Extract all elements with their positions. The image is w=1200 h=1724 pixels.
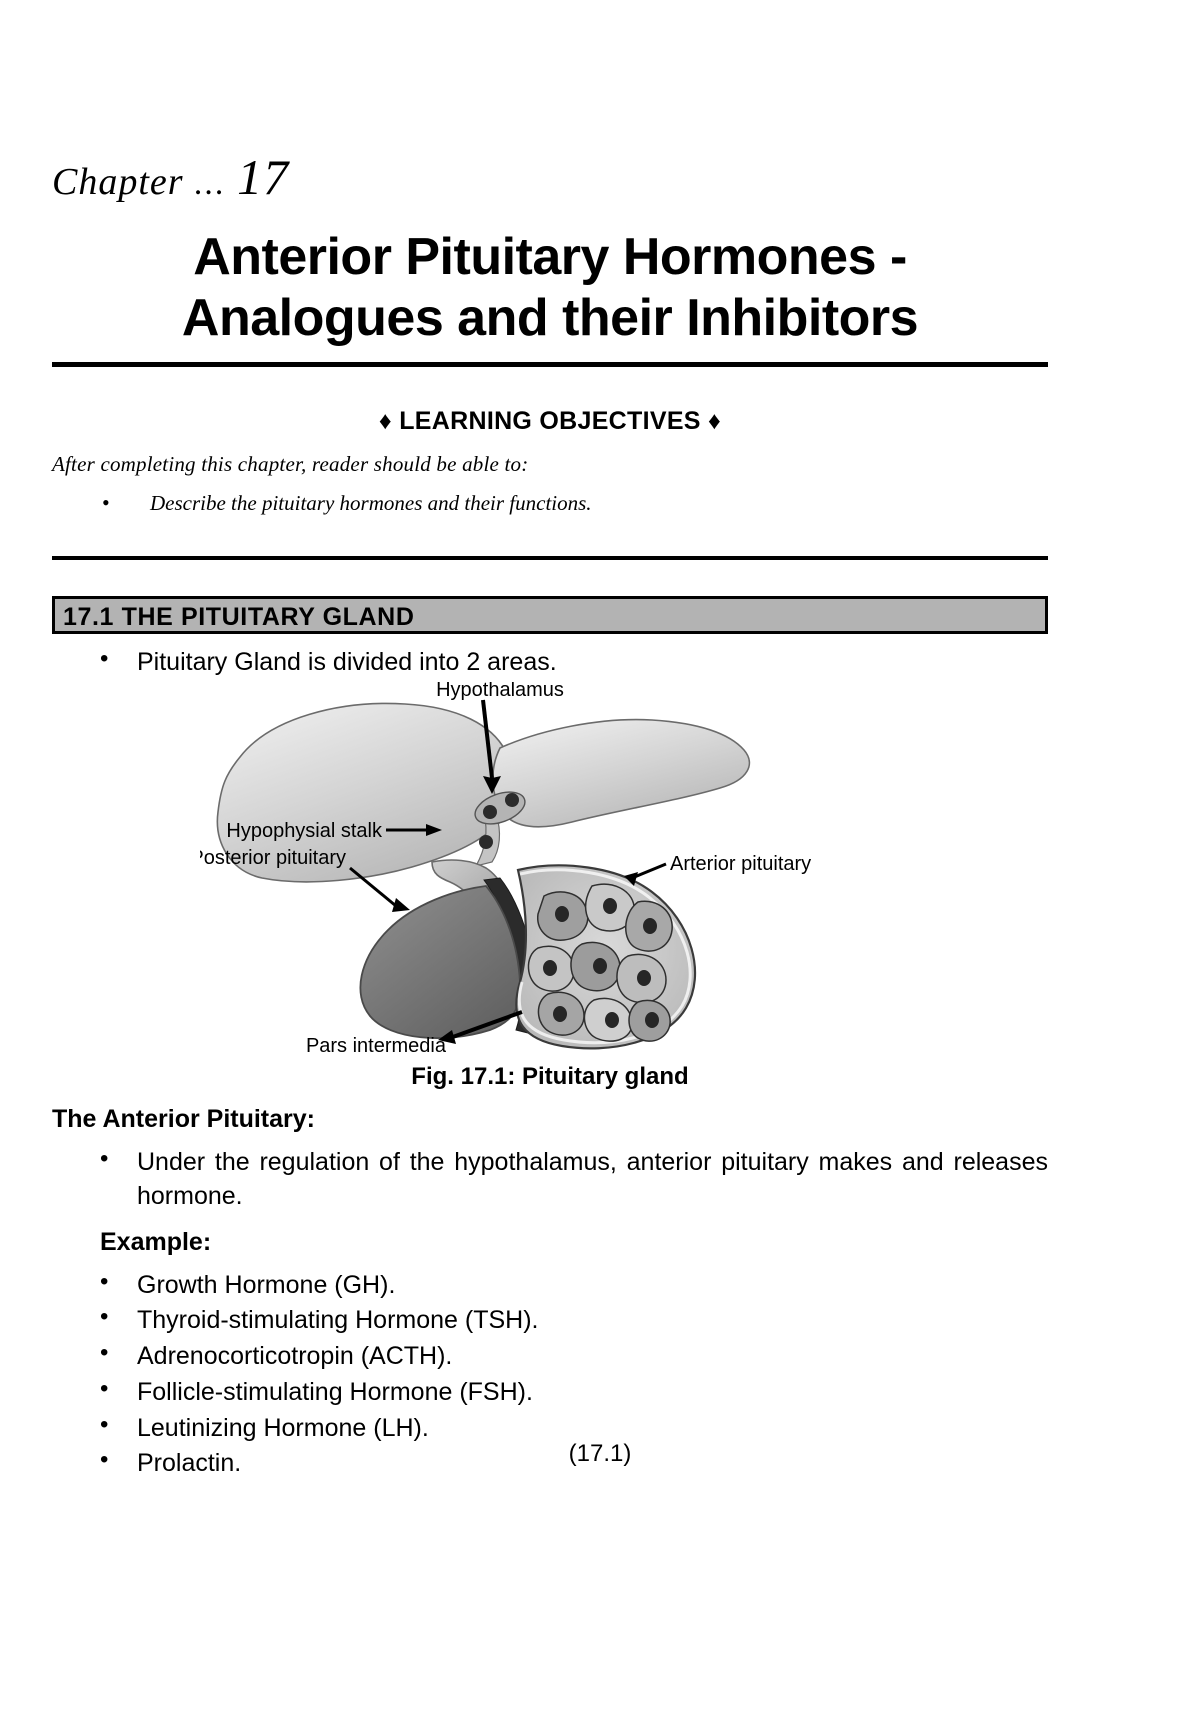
figure-label-anterior-pituitary: Arterior pituitary [670, 853, 811, 875]
figure-pituitary-gland: Hypothalamus Hypophysial stalk Posterior… [52, 682, 1048, 1091]
anterior-pituitary-heading: The Anterior Pituitary: [52, 1105, 1048, 1134]
list-item-label: Leutinizing Hormone (LH). [137, 1414, 429, 1442]
list-item-label: Pituitary Gland is divided into 2 areas. [137, 648, 557, 676]
figure-caption: Fig. 17.1: Pituitary gland [52, 1063, 1048, 1091]
list-item-label: Thyroid-stimulating Hormone (TSH). [137, 1306, 539, 1334]
bullet-icon: • [100, 1301, 108, 1333]
page-title-line-1: Anterior Pituitary Hormones - [56, 227, 1044, 288]
figure-label-hypothalamus: Hypothalamus [436, 682, 564, 701]
section-bullet-list: • Pituitary Gland is divided into 2 area… [52, 646, 1048, 680]
page-content: Chapter ... 17 Anterior Pituitary Hormon… [52, 0, 1048, 1483]
page-title: Anterior Pituitary Hormones - Analogues … [52, 227, 1048, 356]
chapter-label: Chapter [52, 161, 184, 203]
figure-label-hypophysial-stalk: Hypophysial stalk [226, 820, 383, 842]
chapter-dots: ... [195, 165, 227, 202]
learning-objectives-list: • Describe the pituitary hormones and th… [52, 487, 1048, 521]
list-item: • Growth Hormone (GH). [52, 1269, 1048, 1303]
list-item-label: Follicle-stimulating Hormone (FSH). [137, 1378, 533, 1406]
bullet-icon: • [100, 1337, 108, 1369]
learning-objectives-intro: After completing this chapter, reader sh… [52, 452, 1048, 477]
learning-objectives-heading: ♦ LEARNING OBJECTIVES ♦ [52, 407, 1048, 436]
section-header-bar: 17.1 THE PITUITARY GLAND [52, 596, 1048, 634]
chapter-number: 17 [237, 149, 289, 205]
bullet-icon: • [100, 1409, 108, 1441]
bullet-icon: • [102, 485, 110, 520]
title-divider [52, 362, 1048, 367]
list-item-label: Adrenocorticotropin (ACTH). [137, 1342, 452, 1370]
list-item-label: Under the regulation of the hypothalamus… [137, 1148, 1048, 1210]
page-title-line-2: Analogues and their Inhibitors [56, 288, 1044, 349]
list-item: • Thyroid-stimulating Hormone (TSH). [52, 1304, 1048, 1338]
figure-label-pars-intermedia: Pars intermedia [306, 1035, 447, 1057]
page-number: (17.1) [569, 1440, 632, 1467]
bullet-icon: • [100, 1266, 108, 1298]
list-item: • Describe the pituitary hormones and th… [52, 487, 1048, 521]
document-page: Chapter ... 17 Anterior Pituitary Hormon… [0, 0, 1200, 1724]
page-footer: (17.1) [0, 1440, 1200, 1468]
list-item-label: Growth Hormone (GH). [137, 1271, 395, 1299]
pituitary-gland-illustration: Hypothalamus Hypophysial stalk Posterior… [200, 682, 900, 1057]
learning-objectives-divider [52, 556, 1048, 560]
list-item: • Under the regulation of the hypothalam… [52, 1146, 1048, 1214]
list-item: • Pituitary Gland is divided into 2 area… [52, 646, 1048, 680]
example-label: Example: [100, 1228, 1048, 1257]
anterior-pituitary-bullets: • Under the regulation of the hypothalam… [52, 1146, 1048, 1214]
list-item-label: Describe the pituitary hormones and thei… [150, 491, 592, 515]
bullet-icon: • [100, 1373, 108, 1405]
bullet-icon: • [100, 1143, 108, 1175]
figure-label-posterior-pituitary: Posterior pituitary [200, 847, 346, 869]
section-header-label: 17.1 THE PITUITARY GLAND [63, 603, 415, 631]
chapter-heading: Chapter ... 17 [52, 150, 1048, 205]
list-item: • Adrenocorticotropin (ACTH). [52, 1340, 1048, 1374]
brain-right-wing [493, 720, 750, 827]
posterior-pituitary-lobe [360, 886, 520, 1038]
list-item: • Follicle-stimulating Hormone (FSH). [52, 1376, 1048, 1410]
bullet-icon: • [100, 643, 108, 675]
